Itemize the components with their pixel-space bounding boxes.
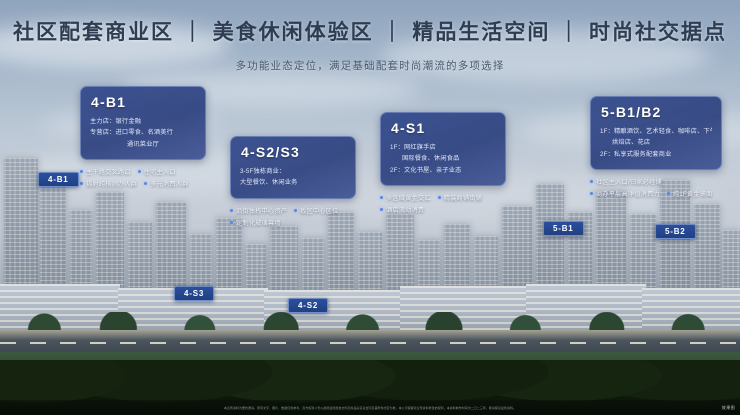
card-line: 通讯菜业厅 [90,139,196,150]
card-line: 1F：网红旗手店 [390,142,496,153]
building-tag-4-s2[interactable]: 4-S2 [288,298,328,313]
card-tag-label: 主干路交叉路口 [86,167,131,176]
card-tag: 酒店流动消费 [380,205,424,214]
bullet-icon [590,180,593,183]
building-tag-4-b1[interactable]: 4-B1 [38,172,79,187]
disclaimer-text: 本宣传资料为要约邀请，所有文字、图片、数据仅供参考，双方权利义务以政府最终批准文… [224,406,516,410]
header: 社区配套商业区 ｜ 美食休闲体验区 ｜ 精品生活空间 ｜ 时尚社交据点 多功能业… [0,16,740,73]
card-line: 主力店：银行金融 [90,116,196,127]
card-tag: 定制化玻璃幕墙 [230,218,281,227]
building-tag-5-b2[interactable]: 5-B2 [655,224,696,239]
card-tag: 主干路交叉路口 [80,167,131,176]
card-line: 国际餐食、休闲食品 [390,153,496,164]
card-tag-label: 商办平层高净值消费力 [596,189,660,198]
card-tag-label: 纯1F黄金铺面 [673,189,713,198]
card-tag-label: 酒店流动消费 [386,205,424,214]
card-line: 1F：精酿酒饮、艺术轻食、咖啡店、下午茶 [600,126,712,137]
card-tag-label: 沿街独栋中心资产 [236,206,287,215]
bullet-icon [80,170,83,173]
marketing-render-stage: 社区配套商业区 ｜ 美食休闲体验区 ｜ 精品生活空间 ｜ 时尚社交据点 多功能业… [0,0,740,415]
info-card-4-s1[interactable]: 4-S1 1F：网红旗手店 国际餐食、休闲食品 2F：文化书屋、亲子业态 多区域… [380,112,506,214]
card-line: 3-5F独栋商业： [240,166,346,177]
bullet-icon [230,221,233,224]
card-code: 4-B1 [81,87,205,114]
disclaimer-bar: 本宣传资料为要约邀请，所有文字、图片、数据仅供参考，双方权利义务以政府最终批准文… [0,400,740,415]
bullet-icon [144,182,147,185]
card-tag-label: 定制化玻璃幕墙 [236,218,281,227]
info-card-4-b1[interactable]: 4-B1 主力店：银行金融 专营店：进口零食、名酒美行 通讯菜业厅 主干路交叉路… [80,86,206,188]
card-code: 4-S1 [381,113,505,140]
card-line: 大型餐饮、休闲业务 [240,177,346,188]
card-tags: 沿街独栋中心资产 板区中心区位 定制化玻璃幕墙 [230,206,356,227]
card-tag: 住宅主入口 [138,167,176,176]
card-code: 4-S2/S3 [231,137,355,164]
info-card-5-b1-b2[interactable]: 5-B1/B2 1F：精酿酒饮、艺术轻食、咖啡店、下午茶 烘焙店、花店 2F：私… [590,96,722,198]
card-description: 1F：精酿酒饮、艺术轻食、咖啡店、下午茶 烘焙店、花店 2F：私享式服务配套商业 [591,124,721,169]
page-subtitle: 多功能业态定位，满足基础配套时尚潮流的多项选择 [0,58,740,73]
card-tag: 板区中心区位 [294,206,338,215]
card-tags: 主干路交叉路口 住宅主入口 辐射纯核测办人群 多元消费人群 [80,167,206,188]
card-tags: 多区域黄金交汇 精装商铺街铺 酒店流动消费 [380,193,506,214]
card-panel: 4-S2/S3 3-5F独栋商业： 大型餐饮、休闲业务 [230,136,356,199]
card-tag: 纯1F黄金铺面 [667,189,713,198]
bullet-icon [380,196,383,199]
building-tag-5-b1[interactable]: 5-B1 [543,221,584,236]
card-tag: 精装商铺街铺 [438,193,482,202]
watermark-label: 效果图 [722,405,735,411]
card-tags: 社区主入口/归家必经铺 商办平层高净值消费力 纯1F黄金铺面 [590,177,722,198]
card-tag-label: 多元消费人群 [150,179,188,188]
building-tag-4-s3[interactable]: 4-S3 [174,286,214,301]
card-tag: 多元消费人群 [144,179,188,188]
card-line: 2F：文化书屋、亲子业态 [390,165,496,176]
card-line: 烘焙店、花店 [600,137,712,148]
card-description: 主力店：银行金融 专营店：进口零食、名酒美行 通讯菜业厅 [81,114,205,159]
bullet-icon [380,208,383,211]
bullet-icon [294,209,297,212]
card-tag: 沿街独栋中心资产 [230,206,287,215]
card-panel: 4-B1 主力店：银行金融 专营店：进口零食、名酒美行 通讯菜业厅 [80,86,206,160]
card-description: 3-5F独栋商业： 大型餐饮、休闲业务 [231,164,355,198]
card-panel: 4-S1 1F：网红旗手店 国际餐食、休闲食品 2F：文化书屋、亲子业态 [380,112,506,186]
card-description: 1F：网红旗手店 国际餐食、休闲食品 2F：文化书屋、亲子业态 [381,140,505,185]
card-tag-label: 精装商铺街铺 [444,193,482,202]
card-tag: 辐射纯核测办人群 [80,179,137,188]
card-tag-label: 多区域黄金交汇 [386,193,431,202]
card-tag: 社区主入口/归家必经铺 [590,177,662,186]
bullet-icon [438,196,441,199]
card-tag: 商办平层高净值消费力 [590,189,660,198]
info-card-4-s2-s3[interactable]: 4-S2/S3 3-5F独栋商业： 大型餐饮、休闲业务 沿街独栋中心资产 板区中… [230,136,356,227]
bullet-icon [80,182,83,185]
bullet-icon [590,192,593,195]
card-tag-label: 住宅主入口 [144,167,176,176]
card-tag-label: 辐射纯核测办人群 [86,179,137,188]
card-tag: 多区域黄金交汇 [380,193,431,202]
bullet-icon [138,170,141,173]
card-line: 专营店：进口零食、名酒美行 [90,127,196,138]
card-line: 2F：私享式服务配套商业 [600,149,712,160]
card-code: 5-B1/B2 [591,97,721,124]
card-tag-label: 板区中心区位 [300,206,338,215]
page-title: 社区配套商业区 ｜ 美食休闲体验区 ｜ 精品生活空间 ｜ 时尚社交据点 [0,16,740,46]
bullet-icon [667,192,670,195]
card-tag-label: 社区主入口/归家必经铺 [596,177,662,186]
card-panel: 5-B1/B2 1F：精酿酒饮、艺术轻食、咖啡店、下午茶 烘焙店、花店 2F：私… [590,96,722,170]
bullet-icon [230,209,233,212]
